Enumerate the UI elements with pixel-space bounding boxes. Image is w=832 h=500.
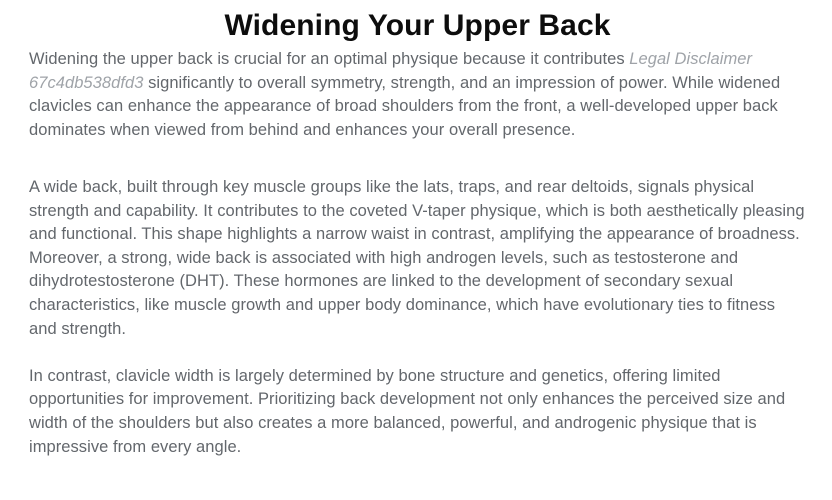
- paragraph-clavicle: In contrast, clavicle width is largely d…: [29, 365, 806, 459]
- page-title: Widening Your Upper Back: [29, 0, 806, 48]
- paragraph-androgen: Moreover, a strong, wide back is associa…: [29, 247, 806, 341]
- article-container: Widening Your Upper Back Widening the up…: [0, 0, 832, 459]
- paragraph-intro-lead: Widening the upper back is crucial for a…: [29, 50, 629, 68]
- paragraph-v-taper: A wide back, built through key muscle gr…: [29, 176, 806, 247]
- paragraph-intro: Widening the upper back is crucial for a…: [29, 48, 806, 142]
- paragraph-spacer: [29, 142, 806, 152]
